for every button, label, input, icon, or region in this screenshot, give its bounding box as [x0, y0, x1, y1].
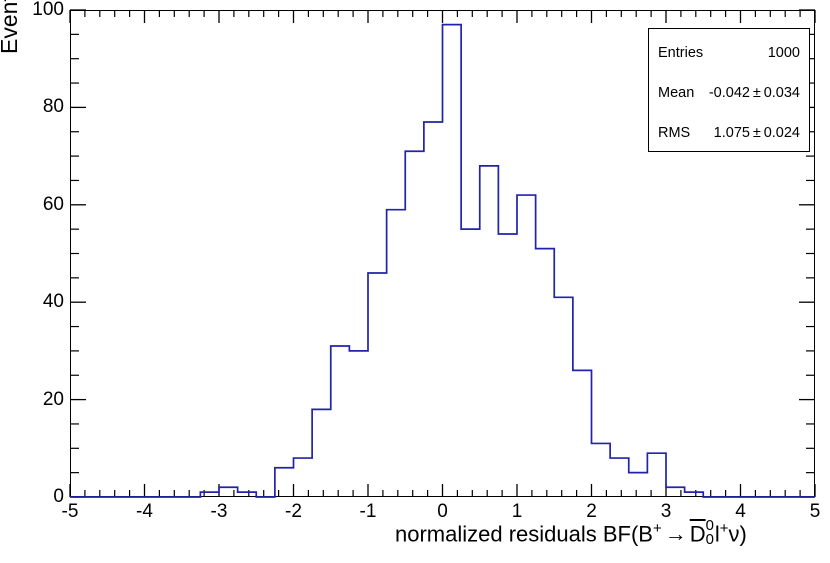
y-tick-label-5: 100: [32, 0, 64, 21]
stat-value-entries: 1000: [768, 45, 800, 61]
stat-value-rms: 1.075 ± 0.024: [714, 125, 800, 141]
x-title-dbar-symbol: D: [690, 521, 706, 546]
x-tick-label-2: -3: [211, 501, 228, 523]
x-tick-label-4: -1: [360, 501, 377, 523]
root-histogram-canvas: -5-4-3-2-1012345 020406080100 Events nor…: [0, 0, 830, 563]
statistics-box: Entries 1000 Mean -0.042 ± 0.034 RMS 1.0…: [648, 28, 810, 152]
x-title-d-indices: 00: [706, 526, 715, 541]
stat-value-mean: -0.042 ± 0.034: [709, 85, 800, 101]
x-title-b-charge: +: [653, 520, 662, 537]
y-tick-label-1: 20: [43, 389, 64, 411]
stat-row-entries: Entries 1000: [658, 45, 800, 61]
y-tick-label-2: 40: [43, 291, 64, 313]
y-axis-title: Events: [0, 0, 23, 54]
y-tick-label-0: 0: [53, 486, 64, 508]
x-tick-label-3: -2: [285, 501, 302, 523]
stat-label-rms: RMS: [658, 125, 696, 141]
x-title-d-subscript: 0: [706, 531, 714, 548]
x-tick-label-10: 5: [810, 501, 821, 523]
stat-row-mean: Mean -0.042 ± 0.034: [658, 85, 800, 101]
x-title-neutrino: ν: [729, 521, 740, 546]
x-axis-title: normalized residuals BF(B+→D00l+ν): [395, 520, 747, 547]
x-title-close-paren: ): [740, 521, 747, 546]
stat-label-mean: Mean: [658, 85, 700, 101]
y-tick-label-3: 60: [43, 194, 64, 216]
x-title-lepton-charge: +: [720, 520, 729, 537]
x-tick-label-1: -4: [136, 501, 153, 523]
stat-row-rms: RMS 1.075 ± 0.024: [658, 125, 800, 141]
x-title-arrow: →: [662, 521, 690, 546]
y-tick-label-4: 80: [43, 96, 64, 118]
stat-label-entries: Entries: [658, 45, 709, 61]
x-title-prefix: normalized residuals BF(B: [395, 521, 653, 546]
x-tick-label-0: -5: [62, 501, 79, 523]
